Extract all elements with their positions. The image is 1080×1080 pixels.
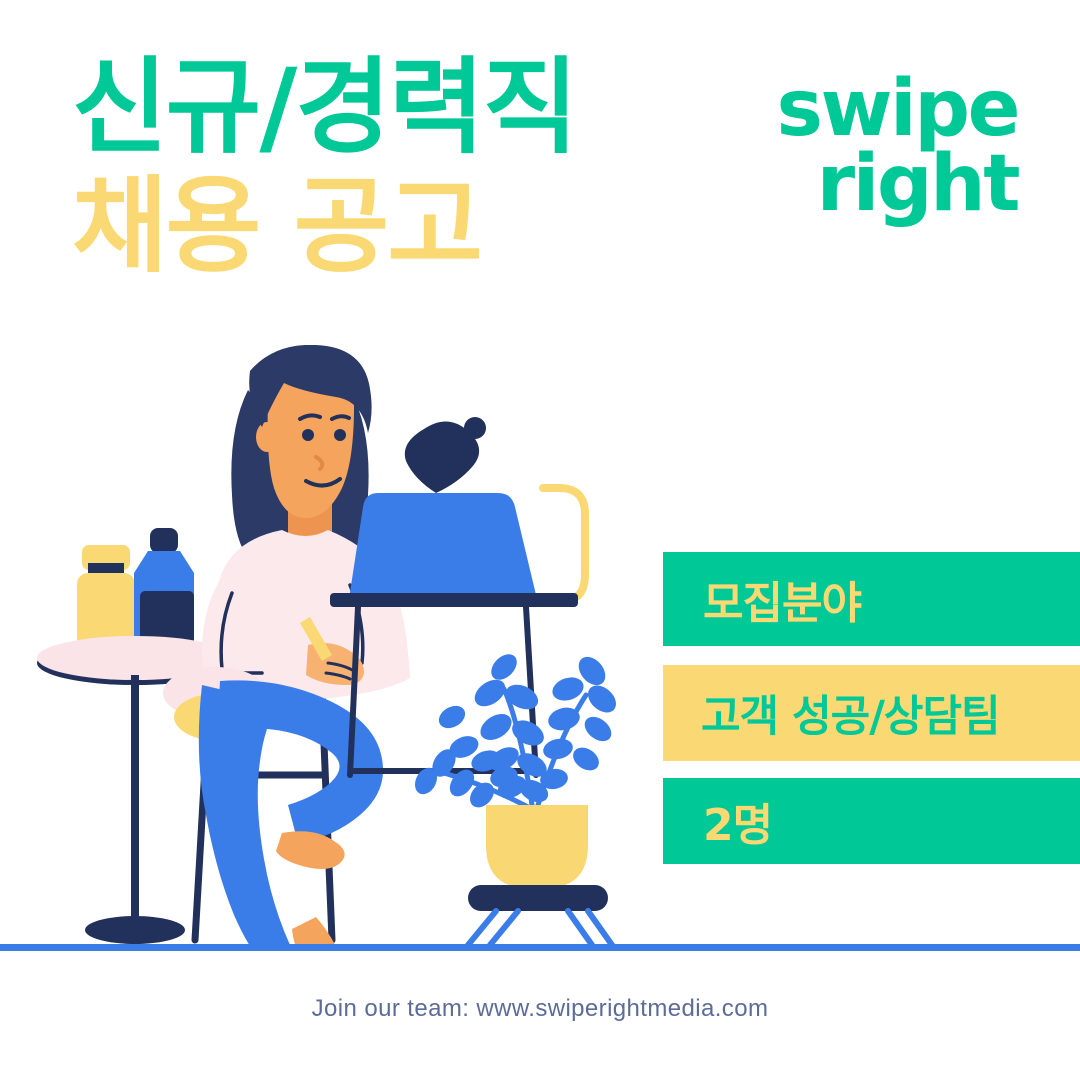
logo-line-right: right xyxy=(777,147,1018,222)
info-bars: 모집분야 고객 성공/상담팀 2명 xyxy=(663,552,1080,864)
lamp-joint xyxy=(464,417,486,439)
headline-line-2: 채용 공고 xyxy=(72,167,692,286)
desk-top xyxy=(330,593,578,607)
info-bar-field-label: 모집분야 xyxy=(663,552,1080,646)
table-stem xyxy=(131,675,139,925)
ear xyxy=(256,422,278,452)
headline-block: 신규/경력직 채용 공고 xyxy=(72,48,692,285)
foot-upper xyxy=(276,831,345,869)
info-bar-field-value: 고객 성공/상담팀 xyxy=(663,665,1080,761)
headline-line-1: 신규/경력직 xyxy=(72,48,692,167)
eye-left xyxy=(302,429,314,441)
logo-line-swipe: swipe xyxy=(777,72,1018,147)
plant-stool-legs xyxy=(468,911,612,945)
footer-text: Join our team: www.swiperightmedia.com xyxy=(0,995,1080,1023)
info-bar-headcount: 2명 xyxy=(663,778,1080,864)
potted-plant xyxy=(411,649,622,945)
laptop-screen xyxy=(349,493,537,599)
eye-right xyxy=(334,429,346,441)
plant-pot xyxy=(486,805,588,887)
brand-logo: swipe right xyxy=(777,72,1018,222)
blue-bottle-cap xyxy=(150,528,178,553)
footer-divider xyxy=(0,944,1080,951)
table-base xyxy=(85,916,185,944)
illustration-woman-working xyxy=(20,345,680,945)
plant-leaves-right xyxy=(538,652,621,792)
recruitment-poster: 신규/경력직 채용 공고 swipe right xyxy=(0,0,1080,1080)
plant-stool-seat xyxy=(468,885,608,911)
